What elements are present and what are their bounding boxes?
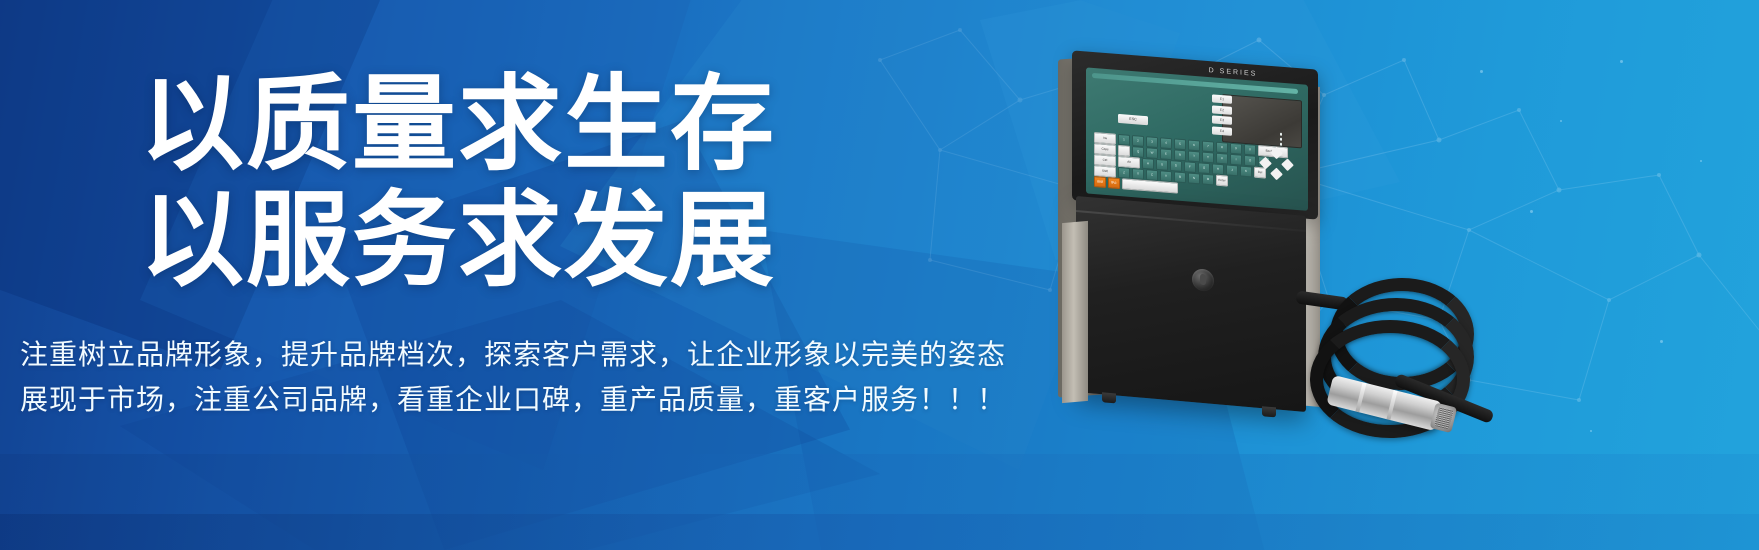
cabinet-foot bbox=[1262, 406, 1276, 417]
key-stop[interactable]: 停止 bbox=[1108, 177, 1120, 189]
conduit-cable bbox=[1296, 268, 1526, 478]
led-dot bbox=[1280, 138, 1283, 141]
subtitle-line-2: 展现于市场，注重公司品牌，看重企业口碑，重产品质量，重客户服务！！！ bbox=[20, 378, 1006, 418]
headline-line-2: 以服务求发展 bbox=[140, 188, 776, 292]
key-letter[interactable]: K bbox=[1240, 166, 1252, 178]
key-f1[interactable]: F1 bbox=[1212, 94, 1232, 104]
key-letter[interactable]: M bbox=[1202, 174, 1214, 186]
printer-lcd-screen bbox=[1222, 94, 1302, 148]
inkjet-printer-product: D SERIES F1 F2 F3 F4 ESC Ins 1 2 3 bbox=[1010, 46, 1350, 406]
speck bbox=[1620, 60, 1623, 63]
headline: 以质量求生存 以服务求发展 bbox=[140, 72, 776, 292]
headline-line-1: 以质量求生存 bbox=[140, 63, 776, 185]
key-num[interactable]: 3 bbox=[1146, 136, 1158, 148]
key-letter[interactable]: W bbox=[1146, 147, 1158, 159]
led-dot bbox=[1280, 133, 1283, 136]
key-f4[interactable]: F4 bbox=[1212, 126, 1232, 136]
speck bbox=[1530, 210, 1533, 213]
key-letter[interactable]: H bbox=[1212, 163, 1224, 175]
cabinet-latch[interactable] bbox=[1192, 268, 1214, 292]
key-letter[interactable]: D bbox=[1170, 160, 1182, 172]
key-letter[interactable]: S bbox=[1156, 159, 1168, 171]
key-symbol[interactable] bbox=[1118, 145, 1130, 157]
key-letter[interactable]: Z bbox=[1118, 167, 1130, 179]
key-f2[interactable]: F2 bbox=[1212, 105, 1232, 115]
nav-left-icon[interactable] bbox=[1259, 157, 1272, 170]
key-f3[interactable]: F3 bbox=[1212, 115, 1232, 125]
speck bbox=[1480, 70, 1483, 73]
key-letter[interactable]: J bbox=[1226, 164, 1238, 176]
speck bbox=[1660, 340, 1663, 343]
banner-copy: 以质量求生存 以服务求发展 注重树立品牌形象，提升品牌档次，探索客户需求，让企业… bbox=[0, 0, 1000, 550]
key-letter[interactable]: C bbox=[1146, 169, 1158, 181]
navigation-dpad[interactable] bbox=[1260, 147, 1294, 180]
subtitle-line-1: 注重树立品牌形象，提升品牌档次，探索客户需求，让企业形象以完美的姿态 bbox=[20, 333, 1006, 373]
promo-banner: 以质量求生存 以服务求发展 注重树立品牌形象，提升品牌档次，探索客户需求，让企业… bbox=[0, 0, 1759, 550]
speck bbox=[1560, 120, 1562, 122]
printer-control-panel: F1 F2 F3 F4 ESC Ins 1 2 3 4 5 6 7 bbox=[1086, 67, 1308, 210]
nav-right-icon[interactable] bbox=[1281, 158, 1294, 171]
speck bbox=[1700, 160, 1702, 162]
led-dot bbox=[1280, 143, 1283, 146]
key-esc[interactable]: ESC bbox=[1118, 114, 1148, 125]
status-led-dots bbox=[1280, 133, 1283, 148]
speck bbox=[1590, 430, 1592, 432]
cabinet-seam bbox=[1076, 210, 1306, 232]
key-letter[interactable]: F bbox=[1184, 161, 1196, 173]
function-key-group[interactable]: F1 F2 F3 F4 bbox=[1212, 94, 1234, 138]
printer-front-pillar bbox=[1062, 221, 1088, 403]
key-start[interactable]: 启动 bbox=[1094, 176, 1106, 188]
key-letter[interactable]: A bbox=[1142, 158, 1154, 170]
key-num[interactable]: 1 bbox=[1118, 134, 1130, 146]
cabinet-foot bbox=[1102, 392, 1116, 403]
key-enter[interactable]: Enter bbox=[1216, 175, 1228, 187]
key-letter[interactable]: N bbox=[1188, 172, 1200, 184]
printer-control-head: D SERIES F1 F2 F3 F4 ESC Ins 1 2 3 bbox=[1072, 50, 1318, 219]
printer-ink-cabinet bbox=[1076, 196, 1306, 412]
nav-up-icon[interactable] bbox=[1270, 147, 1283, 160]
key-letter[interactable]: G bbox=[1198, 162, 1210, 174]
